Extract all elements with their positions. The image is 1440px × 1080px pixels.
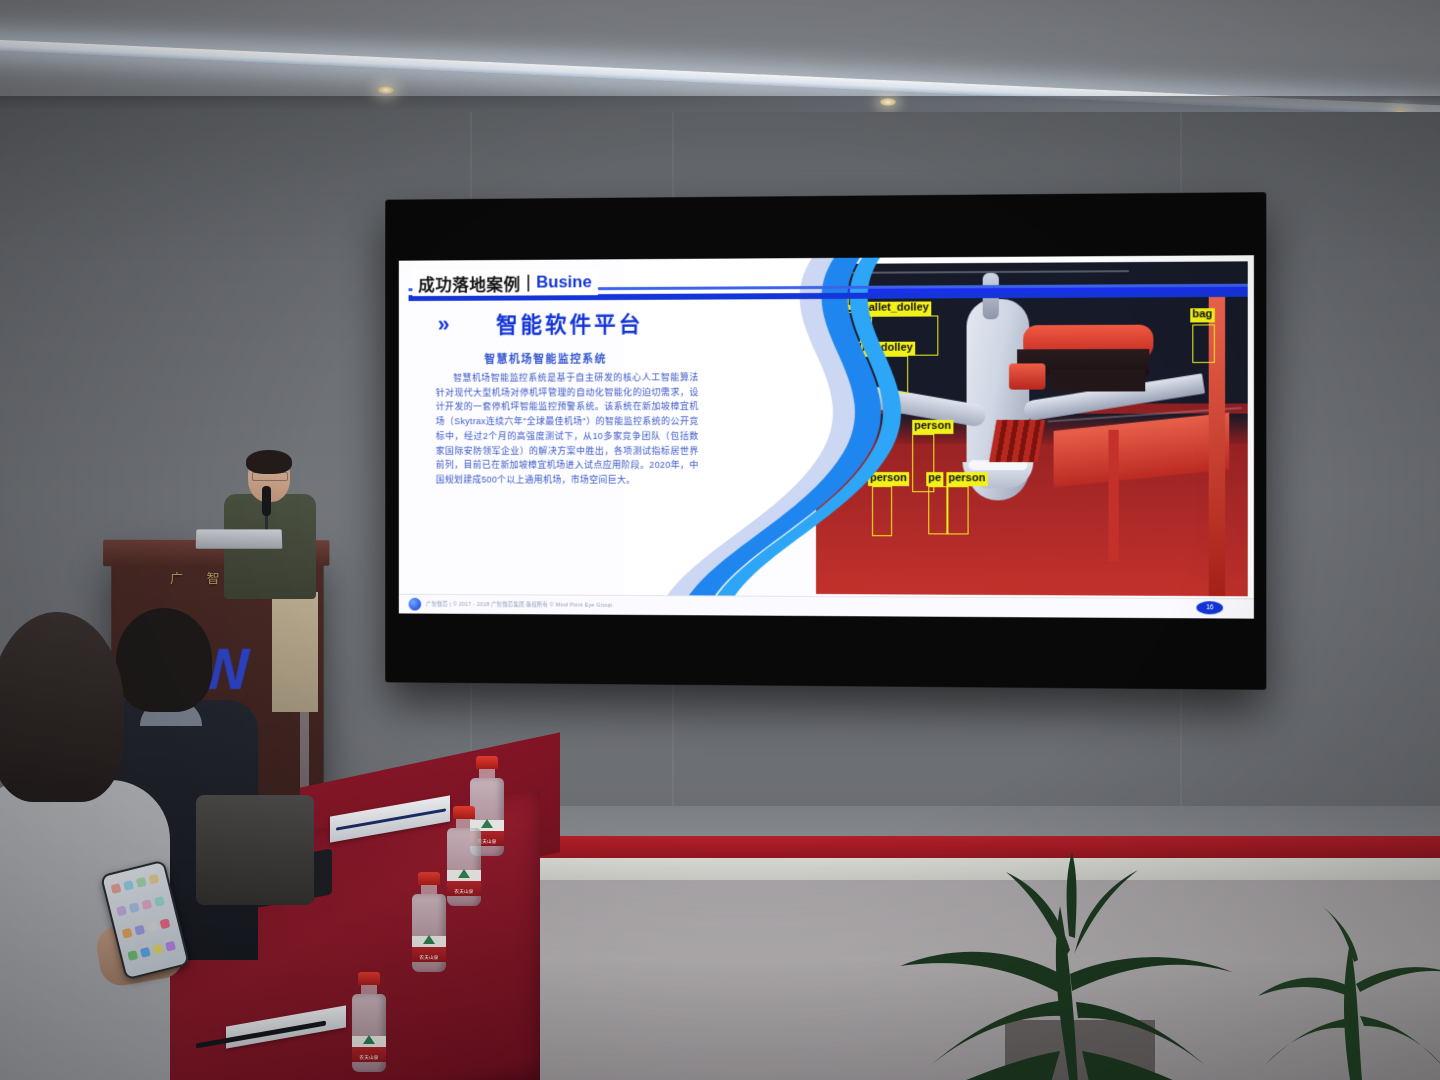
bottle-cap	[453, 806, 475, 819]
bottle-neck	[456, 819, 472, 828]
presenter-laptop[interactable]	[196, 529, 283, 548]
chair-back	[196, 795, 314, 905]
bottle-neck	[479, 769, 495, 778]
mountain-icon	[481, 819, 493, 828]
mountain-icon	[458, 869, 470, 878]
downlight-icon	[378, 86, 394, 94]
bottle-cap	[418, 872, 440, 885]
phone-app-icon[interactable]	[141, 899, 152, 910]
slide-subheading: 智慧机场智能监控系统	[484, 351, 606, 367]
bottle-brand: 农夫山泉	[412, 955, 446, 961]
detection-label: bag	[1190, 308, 1214, 322]
phone-app-icon[interactable]	[127, 950, 138, 961]
slide-page-number: 16	[1196, 601, 1223, 614]
bottle-neck	[421, 885, 437, 894]
detection-label: pe	[926, 472, 943, 486]
water-bottle[interactable]: 农夫山泉	[412, 872, 446, 972]
phone-app-icon[interactable]	[148, 874, 159, 885]
bottle-cap	[476, 756, 498, 769]
water-bottle[interactable]: 农夫山泉	[447, 806, 481, 906]
banner-separator	[527, 274, 529, 291]
phone-app-icon[interactable]	[122, 928, 133, 939]
service-truck	[1009, 363, 1045, 389]
banner-title-cn: 成功落地案例	[418, 270, 520, 295]
attendee-left-head	[0, 612, 124, 802]
phone-app-icon[interactable]	[153, 944, 164, 955]
footer-copyright: 广智微芯 | © 2017 - 2018 广智微芯集团 版权所有 © Mind …	[426, 600, 614, 609]
bottle-body: 农夫山泉	[352, 994, 386, 1072]
phone-app-icon[interactable]	[116, 905, 127, 916]
potted-palm-left	[860, 846, 1280, 1080]
display-panel: pallpallet_dolleypallet_dolleybagpersonp…	[399, 255, 1254, 618]
detection-box	[946, 486, 968, 534]
bottle-body: 农夫山泉	[447, 828, 481, 906]
presentation-slide: pallpallet_dolleypallet_dolleybagpersonp…	[399, 255, 1254, 618]
detection-label: person	[946, 472, 987, 486]
phone-app-icon[interactable]	[136, 877, 147, 888]
phone-app-icon[interactable]	[160, 918, 171, 929]
water-bottle[interactable]: 农夫山泉	[352, 972, 386, 1072]
presenter-legs	[272, 592, 318, 712]
glasses-icon	[252, 472, 288, 481]
wall-display[interactable]: pallpallet_dolleypallet_dolleybagpersonp…	[385, 192, 1266, 690]
slide-body-text: 智慧机场智能监控系统是基于自主研发的核心人工智能算法针对现代大型机场对停机坪管理…	[436, 370, 699, 487]
mountain-icon	[363, 1035, 375, 1044]
bottle-brand: 农夫山泉	[447, 889, 481, 895]
slide-heading: 智能软件平台	[496, 307, 643, 339]
phone-app-icon[interactable]	[140, 947, 151, 958]
phone-app-icon[interactable]	[147, 921, 158, 932]
boarding-stairs	[989, 420, 1045, 462]
phone-app-icon[interactable]	[111, 883, 122, 894]
phone-app-icon[interactable]	[165, 941, 176, 952]
slide-banner: 成功落地案例 Busine	[412, 269, 597, 296]
potted-palm-right	[1250, 906, 1440, 1080]
mountain-icon	[423, 935, 435, 944]
bottle-neck	[361, 985, 377, 994]
jet-bridge-support-column	[1109, 430, 1119, 561]
bottle-cap	[358, 972, 380, 985]
detection-box	[1192, 324, 1215, 363]
microphone-icon	[262, 486, 271, 516]
service-vehicle-shadow	[1050, 369, 1146, 391]
phone-app-icon[interactable]	[154, 896, 165, 907]
company-logo-icon	[409, 598, 422, 611]
chevron-icon: »	[438, 312, 447, 338]
presenter-hair	[246, 450, 292, 474]
phone-app-icon[interactable]	[123, 880, 134, 891]
attendee-center-head	[116, 608, 212, 712]
downlight-icon	[880, 98, 896, 106]
phone-app-icon[interactable]	[129, 902, 140, 913]
bottle-brand: 农夫山泉	[352, 1055, 386, 1061]
detection-box	[928, 486, 948, 534]
phone-app-icon[interactable]	[134, 925, 145, 936]
conference-room-photo: pallpallet_dolleypallet_dolleybagpersonp…	[0, 0, 1440, 1080]
banner-title-en: Busine	[536, 272, 592, 292]
bottle-body: 农夫山泉	[412, 894, 446, 972]
